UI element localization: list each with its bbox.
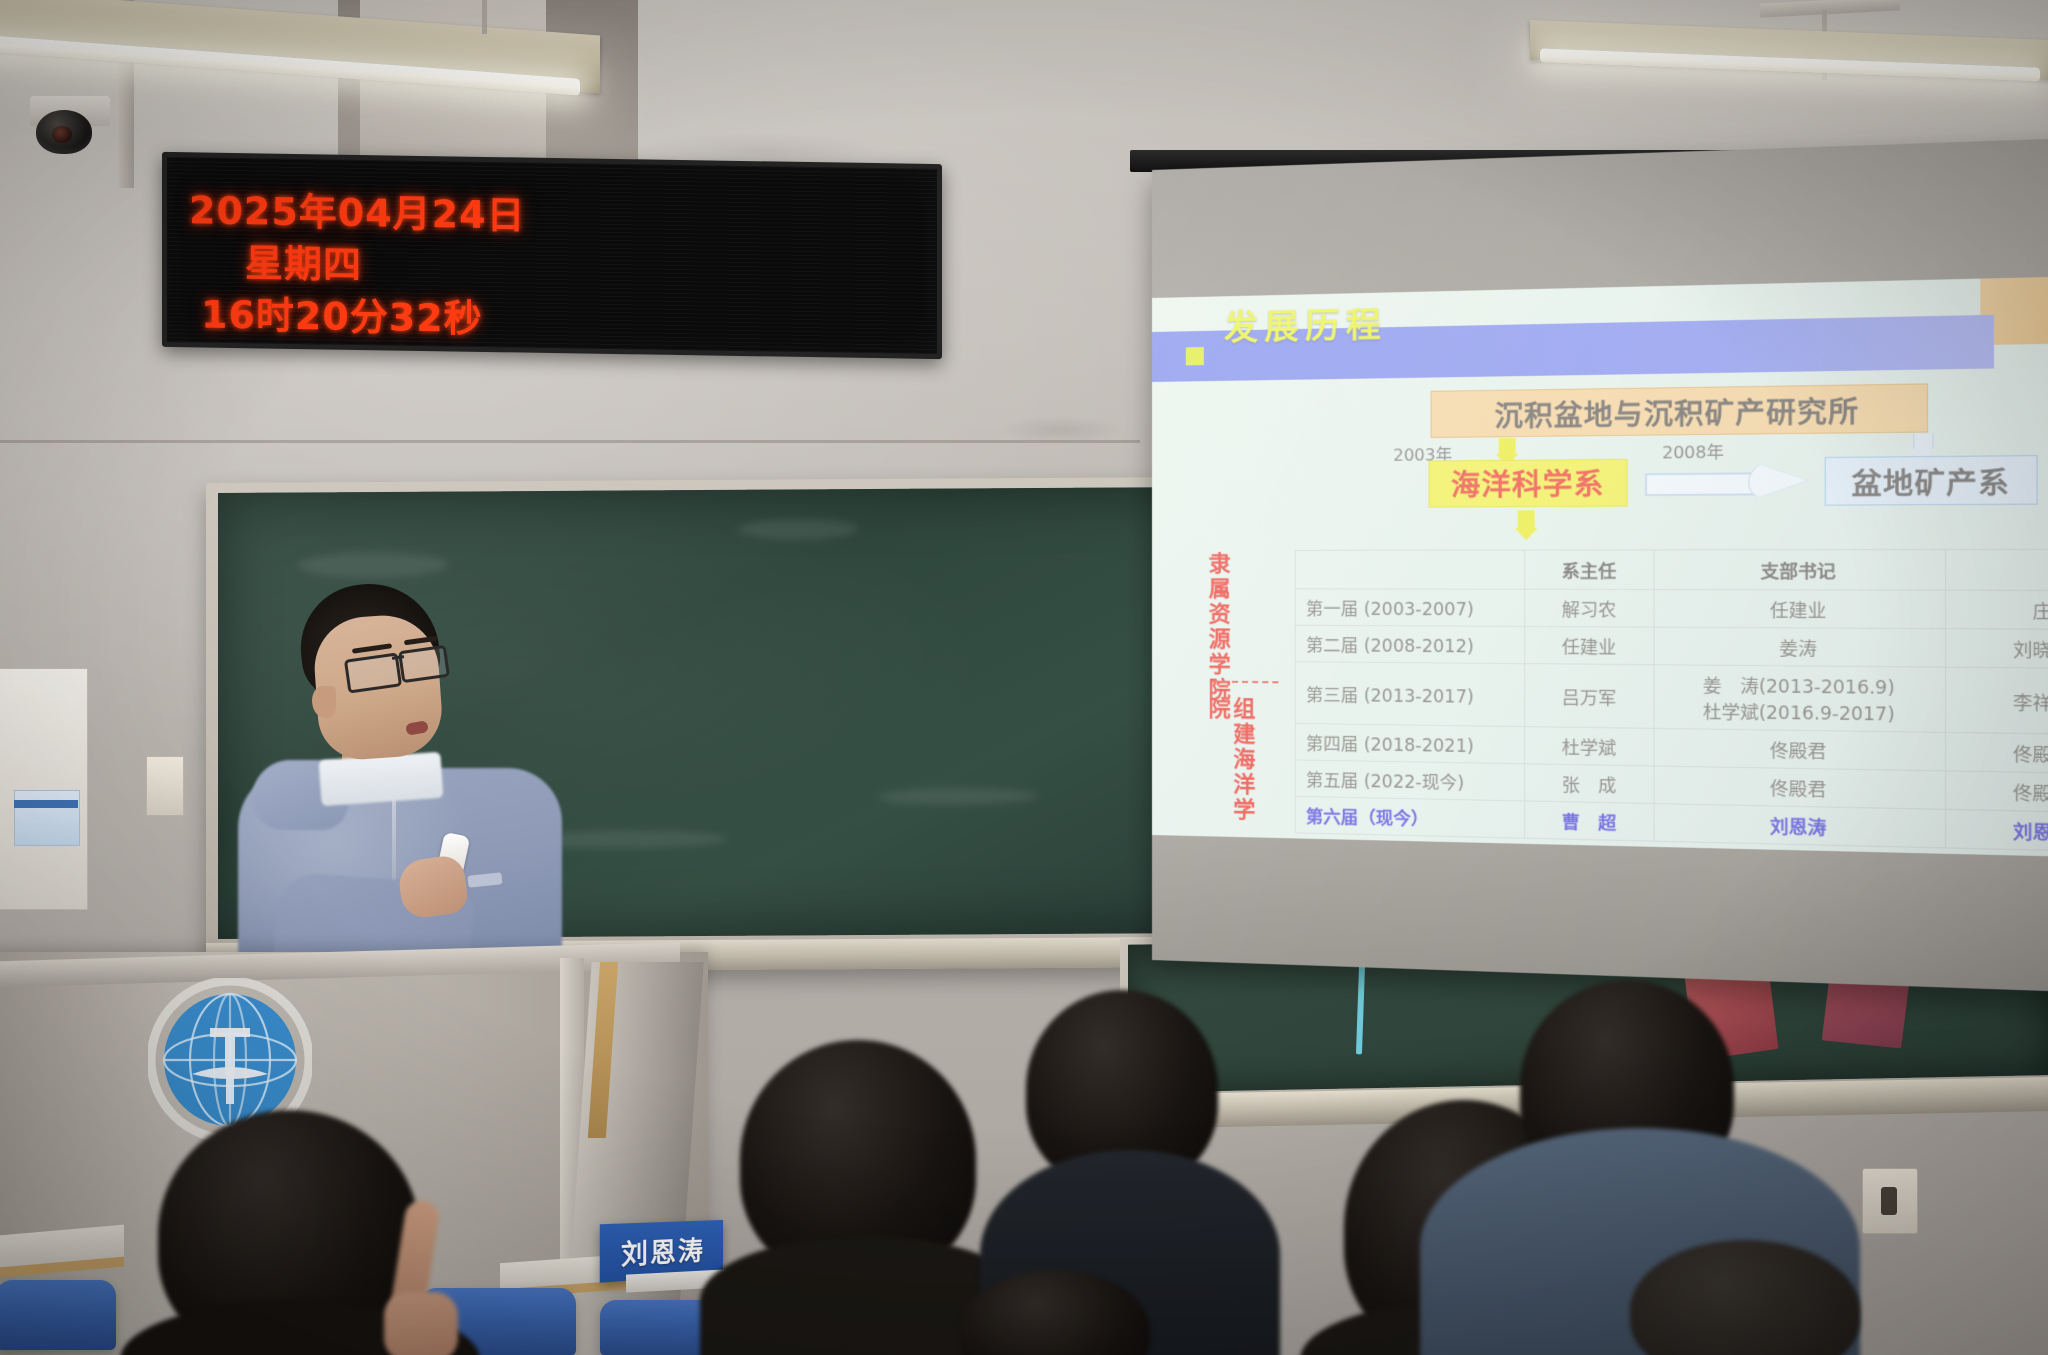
cell-vice: 佟殿君、张 成、 bbox=[1946, 732, 2048, 775]
table-header-vice: 副主任 bbox=[1946, 549, 2048, 591]
projection-screen: 发展历程 沉积盆地与沉积矿产研究所 2003年 海洋科学系 盆地矿产系 2008… bbox=[1152, 137, 2048, 994]
institute-name-box: 沉积盆地与沉积矿产研究所 bbox=[1431, 383, 1928, 438]
leadership-table: 系主任 支部书记 副主任 第一届 (2003-2007) 解习农 任建业 庄新国… bbox=[1295, 549, 2048, 856]
chalk-smudge bbox=[878, 788, 1038, 805]
cell-vice: 李祥权、刘秀娟、 bbox=[1946, 667, 2048, 736]
cell-chair: 任建业 bbox=[1525, 626, 1654, 664]
table-header-row: 系主任 支部书记 副主任 bbox=[1295, 549, 2048, 591]
cell-secretary: 刘恩涛 bbox=[1654, 804, 1946, 848]
wall-socket bbox=[1862, 1168, 1918, 1234]
cell-chair: 曹 超 bbox=[1525, 801, 1654, 841]
chalk-smudge bbox=[738, 519, 858, 540]
led-clock-display: 2025年04月24日 星期四 16时20分32秒 bbox=[162, 152, 942, 359]
cell-chair: 解习农 bbox=[1525, 589, 1654, 627]
cell-term: 第三届 (2013-2017) bbox=[1295, 662, 1524, 727]
cabinet-label-band bbox=[14, 800, 78, 808]
table-header-chair: 系主任 bbox=[1525, 550, 1654, 590]
table-header-secretary: 支部书记 bbox=[1654, 549, 1946, 590]
cell-term: 第四届 (2018-2021) bbox=[1295, 723, 1524, 763]
presenter-shirt-collar bbox=[319, 752, 444, 806]
marine-science-dept-box: 海洋科学系 bbox=[1429, 459, 1628, 508]
camera-lens-icon bbox=[52, 126, 72, 143]
affiliation-marine-label: 组建海洋学院 bbox=[1204, 697, 1254, 838]
audience-hand bbox=[384, 1292, 458, 1355]
cell-term: 第二届 (2008-2012) bbox=[1295, 625, 1524, 663]
table-header-term bbox=[1295, 550, 1524, 589]
cell-chair: 杜学斌 bbox=[1525, 727, 1654, 766]
presenter-ear bbox=[312, 686, 336, 718]
cell-secretary: 姜涛 bbox=[1654, 627, 1946, 667]
cell-secretary-line1: 姜 涛(2013-2016.9) bbox=[1661, 671, 1938, 700]
square-bullet-icon bbox=[1186, 347, 1204, 365]
arrow-right-2008-icon bbox=[1645, 462, 1809, 501]
cell-term: 第一届 (2003-2007) bbox=[1295, 589, 1524, 627]
year-2008-label: 2008年 bbox=[1662, 438, 1724, 464]
cell-secretary: 任建业 bbox=[1654, 590, 1946, 629]
cell-secretary-line2: 杜学斌(2016.9-2017) bbox=[1661, 697, 1938, 727]
wall-cabinet bbox=[0, 668, 88, 910]
cell-secretary: 姜 涛(2013-2016.9) 杜学斌(2016.9-2017) bbox=[1654, 665, 1946, 733]
eyeglasses-icon bbox=[398, 645, 450, 683]
slide-title-text: 发展历程 bbox=[1224, 297, 1387, 350]
cabinet-label-card bbox=[14, 790, 80, 846]
cell-secretary: 佟殿君 bbox=[1654, 728, 1946, 771]
cell-vice: 刘恩涛、曹立成、 bbox=[1946, 809, 2048, 854]
cell-chair: 吕万军 bbox=[1525, 664, 1654, 729]
chalk-smudge bbox=[298, 552, 448, 579]
basin-mineral-dept-box: 盆地矿产系 bbox=[1825, 455, 2038, 506]
cell-vice: 佟殿君、刘恩涛、 bbox=[1946, 771, 2048, 815]
wall-seam-upper bbox=[0, 440, 1140, 443]
cell-chair: 张 成 bbox=[1525, 764, 1654, 804]
cell-term: 第五届 (2022-现今) bbox=[1295, 760, 1524, 801]
table-row: 第一届 (2003-2007) 解习农 任建业 庄新国、刘晓 bbox=[1295, 589, 2048, 630]
speaker-name-text: 刘恩涛 bbox=[621, 1229, 705, 1273]
presentation-slide: 发展历程 沉积盆地与沉积矿产研究所 2003年 海洋科学系 盆地矿产系 2008… bbox=[1152, 275, 2048, 858]
cell-vice: 刘晓峰、吕万军、 bbox=[1946, 629, 2048, 670]
cell-vice: 庄新国、刘晓 bbox=[1946, 590, 2048, 630]
lecture-hall-scene: 2025年04月24日 星期四 16时20分32秒 bbox=[0, 0, 2048, 1355]
cell-secretary: 佟殿君 bbox=[1654, 766, 1946, 809]
cell-term: 第六届（现今） bbox=[1295, 796, 1524, 838]
arrow-down-to-table-icon bbox=[1512, 510, 1540, 537]
light-switch-plate[interactable] bbox=[146, 756, 184, 816]
auditorium-seat bbox=[0, 1280, 116, 1350]
light-hanger-left bbox=[482, 0, 487, 34]
